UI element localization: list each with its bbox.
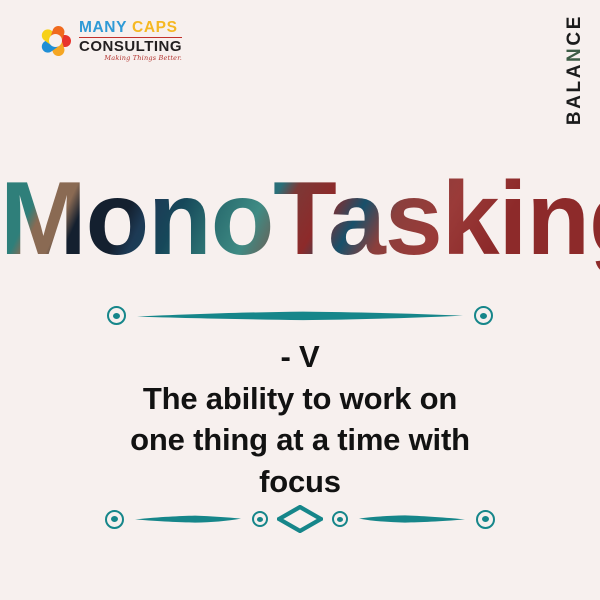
ring-icon <box>107 306 126 325</box>
quote-line-2: one thing at a time with <box>0 419 600 461</box>
ring-icon <box>474 306 493 325</box>
bottom-divider <box>0 505 600 533</box>
diamond-outline-icon <box>277 505 323 533</box>
tapered-line-icon <box>357 511 467 527</box>
title-segment-mono: Mono <box>0 161 273 277</box>
brand-tagline: Making Things Better. <box>79 55 182 62</box>
ring-icon <box>476 510 495 529</box>
brand-word-caps: CAPS <box>132 19 177 36</box>
ring-icon <box>332 511 348 527</box>
tapered-line-icon <box>135 307 465 325</box>
poster-canvas: MANYCAPS CONSULTING Making Things Better… <box>0 0 600 600</box>
top-divider <box>0 306 600 325</box>
brand-logo-text: MANYCAPS CONSULTING Making Things Better… <box>79 20 182 61</box>
brand-logo[interactable]: MANYCAPS CONSULTING Making Things Better… <box>38 20 182 61</box>
quote-line-3: focus <box>0 461 600 503</box>
ring-icon <box>105 510 124 529</box>
page-title: MonoTasking <box>0 163 600 275</box>
quote-attribution: - V <box>0 336 600 378</box>
brand-name-line1: MANYCAPS <box>79 20 182 36</box>
tapered-line-icon <box>133 511 243 527</box>
pinwheel-flower-logo-icon <box>38 24 72 58</box>
brand-name-line2: CONSULTING <box>79 37 182 54</box>
quote-line-1: The ability to work on <box>0 378 600 420</box>
title-segment-tasking: Tasking <box>273 161 600 277</box>
ring-icon <box>252 511 268 527</box>
side-label-balance: BALANCE <box>565 14 584 125</box>
brand-word-many: MANY <box>79 19 127 36</box>
quote-block: - V The ability to work on one thing at … <box>0 336 600 502</box>
